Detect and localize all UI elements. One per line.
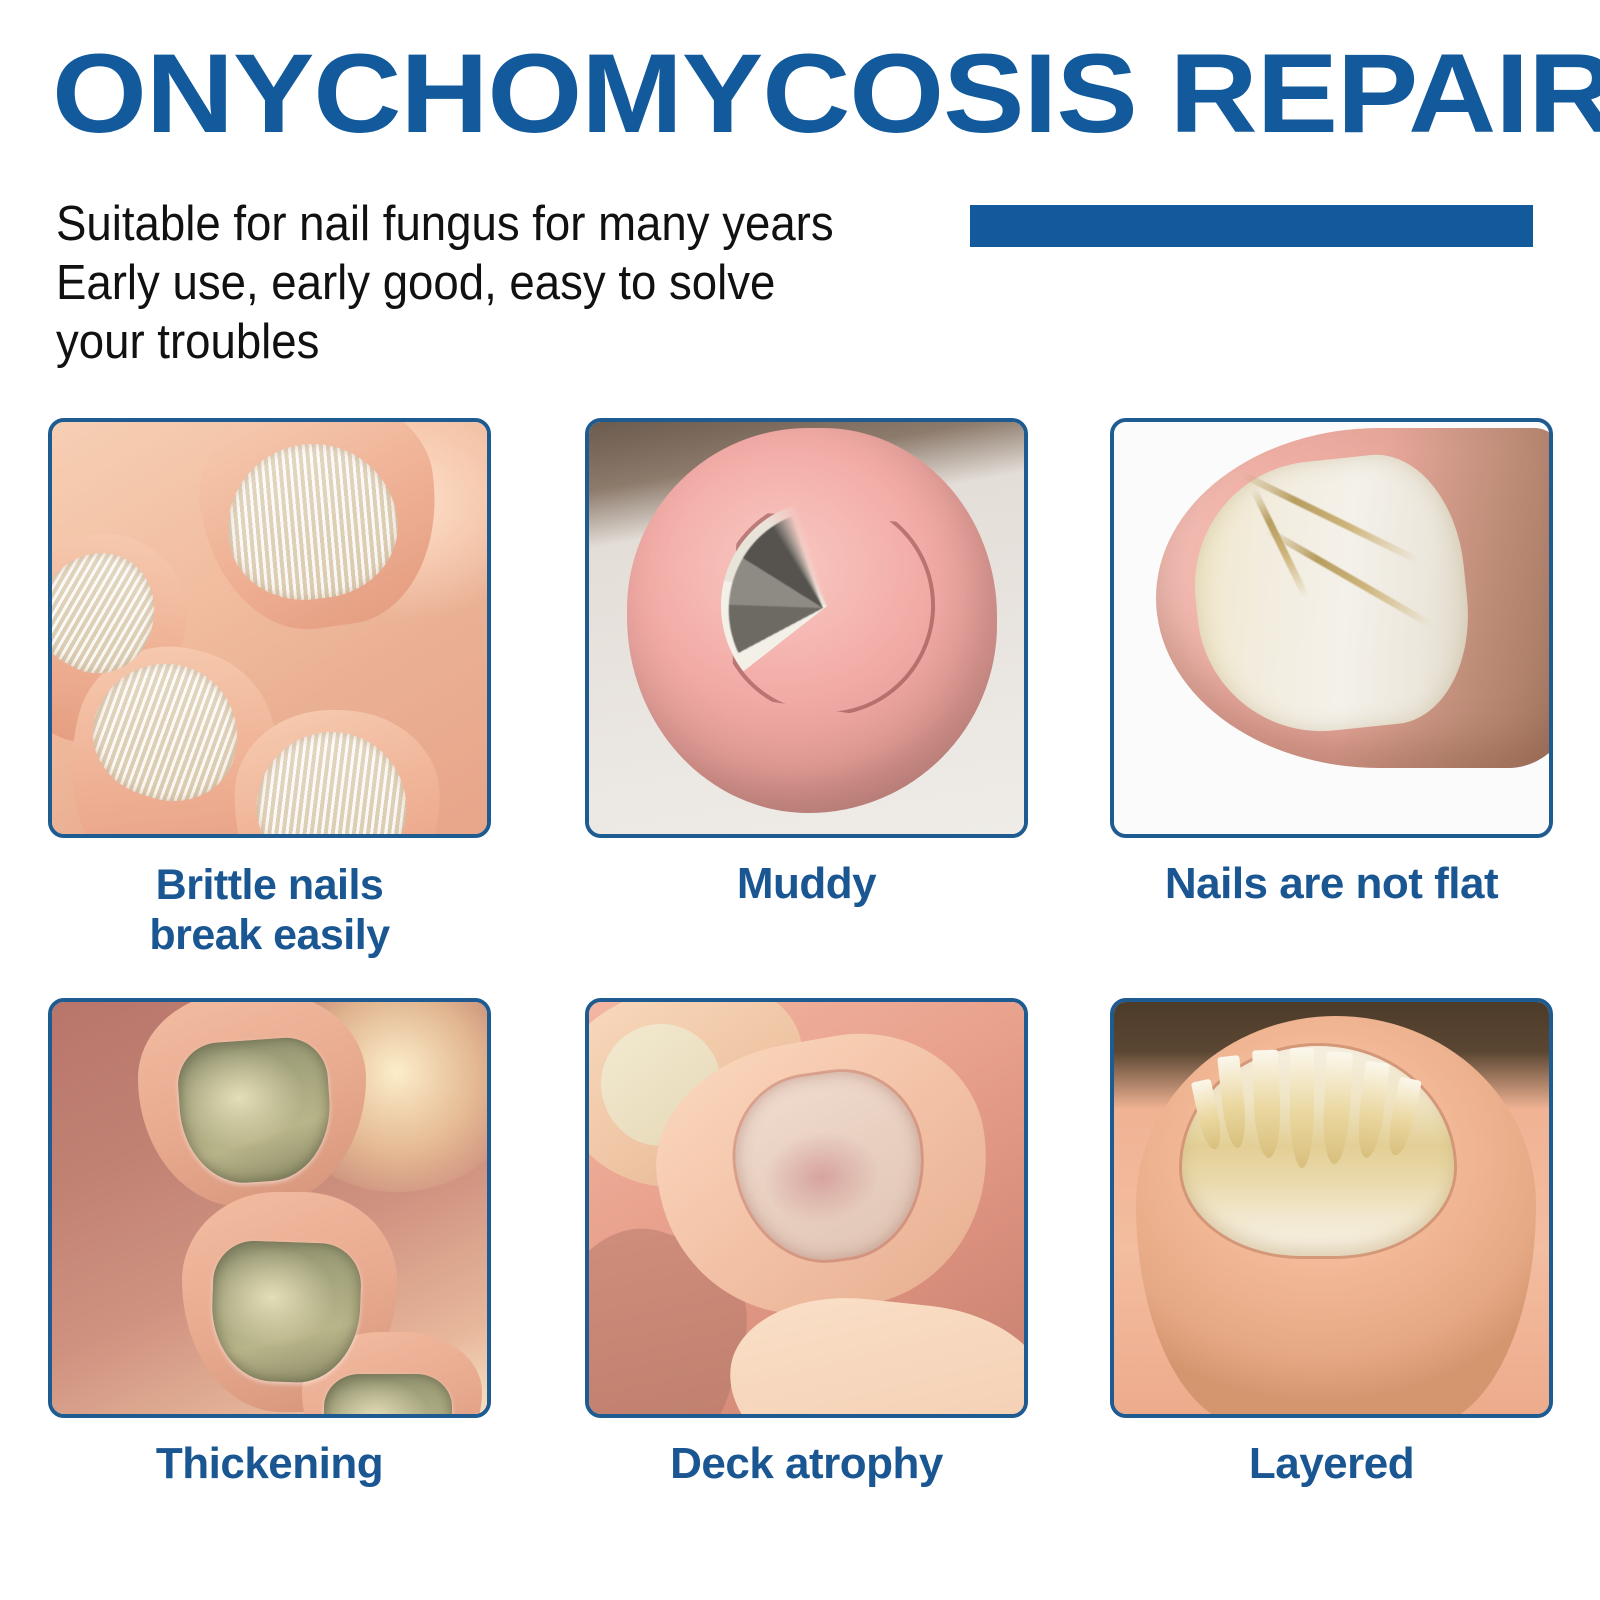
symptom-photo-frame <box>48 998 491 1418</box>
symptom-photo-frame <box>585 998 1028 1418</box>
symptom-grid: Brittle nails break easily Muddy <box>0 0 1600 1600</box>
symptom-caption-line: Deck atrophy <box>585 1440 1028 1488</box>
infographic-page: ONYCHOMYCOSIS REPAIR Suitable for nail f… <box>0 0 1600 1600</box>
symptom-caption: Brittle nails break easily <box>48 860 491 960</box>
symptom-photo-thickening <box>52 1002 487 1414</box>
symptom-caption-line: Nails are not flat <box>1110 860 1553 908</box>
symptom-photo-frame <box>48 418 491 838</box>
symptom-card-deck-atrophy[interactable]: Deck atrophy <box>585 998 1028 1488</box>
symptom-caption: Deck atrophy <box>585 1440 1028 1488</box>
symptom-photo-frame <box>1110 418 1553 838</box>
symptom-card-layered[interactable]: Layered <box>1110 998 1553 1488</box>
symptom-photo-layered <box>1114 1002 1549 1414</box>
symptom-photo-frame <box>585 418 1028 838</box>
symptom-caption-line: Brittle nails <box>48 860 491 910</box>
symptom-caption: Layered <box>1110 1440 1553 1488</box>
symptom-caption: Nails are not flat <box>1110 860 1553 908</box>
symptom-caption-line: Thickening <box>48 1440 491 1488</box>
symptom-caption: Thickening <box>48 1440 491 1488</box>
symptom-caption-line: Muddy <box>585 860 1028 908</box>
symptom-photo-nails-not-flat <box>1114 422 1549 834</box>
symptom-photo-muddy <box>589 422 1024 834</box>
symptom-photo-frame <box>1110 998 1553 1418</box>
symptom-caption-line: Layered <box>1110 1440 1553 1488</box>
symptom-card-thickening[interactable]: Thickening <box>48 998 491 1488</box>
symptom-card-brittle-nails[interactable]: Brittle nails break easily <box>48 418 491 960</box>
symptom-card-muddy[interactable]: Muddy <box>585 418 1028 908</box>
symptom-caption: Muddy <box>585 860 1028 908</box>
symptom-photo-brittle-nails <box>52 422 487 834</box>
symptom-card-nails-not-flat[interactable]: Nails are not flat <box>1110 418 1553 908</box>
symptom-caption-line: break easily <box>48 910 491 960</box>
symptom-photo-deck-atrophy <box>589 1002 1024 1414</box>
